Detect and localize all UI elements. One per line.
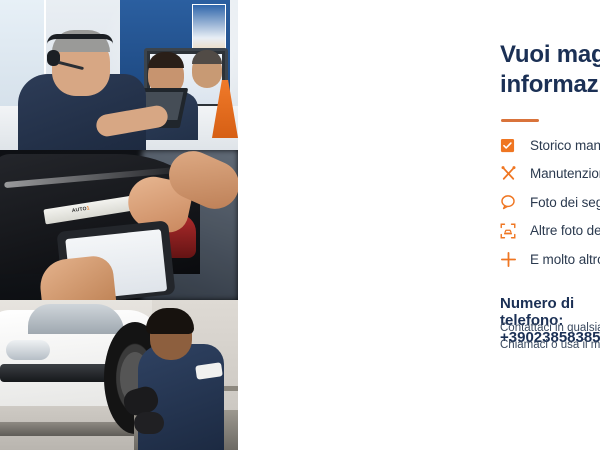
info-panel: Vuoi maggiori informazioni su ? Saremo f… [238,0,600,450]
list-item-label: Storico manutentivo [530,138,600,153]
list-item-label: Manutenzioni effettuate [530,166,600,181]
feature-list: Storico manutentivo Manutenzioni effettu… [500,131,600,274]
photo-column: AUTO1 [0,0,238,450]
list-item: Manutenzioni effettuate [500,160,600,189]
car-frame-icon [500,223,530,239]
photo-call-center [0,0,238,150]
contact-copy: Contattaci in qualsiasi momento per ulte… [500,320,600,354]
front-grille [0,364,118,382]
contact-copy-line-two: Chiamaci o usa il modulo di contatto. [500,337,600,354]
list-item-label: Foto dei segni di usura [530,195,600,210]
photo-mechanic-lift [0,300,238,450]
windshield [28,304,124,334]
page-title: Vuoi maggiori informazioni su ? [500,40,600,100]
title-divider [501,119,539,122]
photo-vehicle-inspection: AUTO1 [0,150,238,300]
list-item-label: Altre foto del veicolo [530,223,600,238]
page-title-line-two: informazioni su ? [500,70,600,100]
headlight [6,340,50,360]
list-item-label: E molto altro ancora [530,252,600,267]
list-item: E molto altro ancora [500,245,600,274]
list-item: Foto dei segni di usura [500,188,600,217]
speech-bubble-icon [500,194,530,210]
tools-cross-icon [500,165,530,182]
mechanic-glove-lower [134,412,164,434]
checkbox-checked-icon [500,138,530,153]
list-item: Storico manutentivo [500,131,600,160]
agent-one-headset-band [47,34,113,44]
contact-copy-line-one: Contattaci in qualsiasi momento per ulte… [500,320,600,337]
list-item: Altre foto del veicolo [500,217,600,246]
page-title-line-one: Vuoi maggiori [500,41,600,68]
promo-banner: AUTO1 [0,0,600,450]
plus-icon [500,251,530,268]
